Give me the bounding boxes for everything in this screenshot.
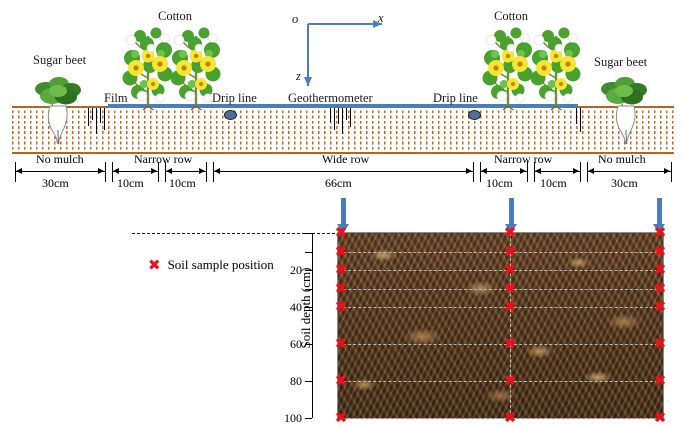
soil-sample-marker-icon: ✖ [148,256,161,274]
zone-label-wide-row: Wide row [322,152,369,167]
sample-marker: ✖ [654,374,667,389]
sample-marker: ✖ [654,411,667,426]
drip-line-right-icon [468,110,481,120]
sample-marker: ✖ [654,281,667,296]
sample-marker: ✖ [654,244,667,259]
zone-label-narrow-row-left: Narrow row [134,152,192,167]
depth-tick-60: 60 [272,337,302,352]
figure-canvas: Sugar beet [0,0,686,425]
cotton-right-2-icon [528,18,584,110]
connector-arrow-centre [509,198,514,225]
film-label: Film [104,92,128,105]
drip-line-right-label: Drip line [433,92,478,105]
connector-arrow-left [341,198,346,225]
legend-label: Soil sample position [168,257,274,273]
axis-origin-label: o [292,13,298,26]
zone-label-no-mulch-right: No mulch [598,152,646,167]
sample-marker: ✖ [335,374,348,389]
depth-tick-80: 80 [272,374,302,389]
sample-marker: ✖ [335,300,348,315]
dimension-30cm-left: 30cm [42,176,69,191]
sample-marker: ✖ [504,374,517,389]
connector-arrow-right [657,198,662,225]
legend: ✖ Soil sample position [148,256,274,274]
dimension-10cm-left-a: 10cm [117,176,144,191]
dimension-10cm-right-b: 10cm [540,176,567,191]
sample-marker: ✖ [504,281,517,296]
sample-marker: ✖ [335,411,348,426]
dimension-30cm-right: 30cm [611,176,638,191]
sample-marker: ✖ [335,263,348,278]
sample-marker: ✖ [504,244,517,259]
dimension-10cm-left-b: 10cm [169,176,196,191]
soil-profile-block [338,233,663,418]
coordinate-axes-icon [296,14,402,98]
depth-tick-40: 40 [272,300,302,315]
geothermometer-label: Geothermometer [288,92,373,105]
sample-marker: ✖ [654,300,667,315]
cotton-right-label: Cotton [494,10,528,23]
sample-marker: ✖ [335,244,348,259]
depth-tick-20: 20 [272,263,302,278]
sample-marker: ✖ [654,263,667,278]
zone-label-no-mulch-left: No mulch [36,152,84,167]
sample-marker: ✖ [504,300,517,315]
sample-marker: ✖ [335,281,348,296]
sugar-beet-left-icon [30,68,86,146]
zone-label-narrow-row-right: Narrow row [494,152,552,167]
drip-line-left-label: Drip line [212,92,257,105]
sample-marker: ✖ [504,263,517,278]
depth-tick-100: 100 [266,411,302,426]
sample-marker: ✖ [654,337,667,352]
sugar-beet-left-label: Sugar beet [33,54,86,67]
dimension-10cm-right-a: 10cm [486,176,513,191]
drip-line-left-icon [224,110,237,120]
cotton-left-label: Cotton [158,10,192,23]
dimension-66cm-wide: 66cm [325,176,352,191]
sample-marker: ✖ [335,226,348,241]
sample-marker: ✖ [335,337,348,352]
axis-z-label: z [296,70,301,83]
sugar-beet-right-label: Sugar beet [594,56,647,69]
sugar-beet-right-icon [596,68,652,146]
axis-x-label: x [378,12,384,25]
sample-marker: ✖ [504,337,517,352]
sample-marker: ✖ [654,226,667,241]
sample-marker: ✖ [504,226,517,241]
sample-marker: ✖ [504,411,517,426]
